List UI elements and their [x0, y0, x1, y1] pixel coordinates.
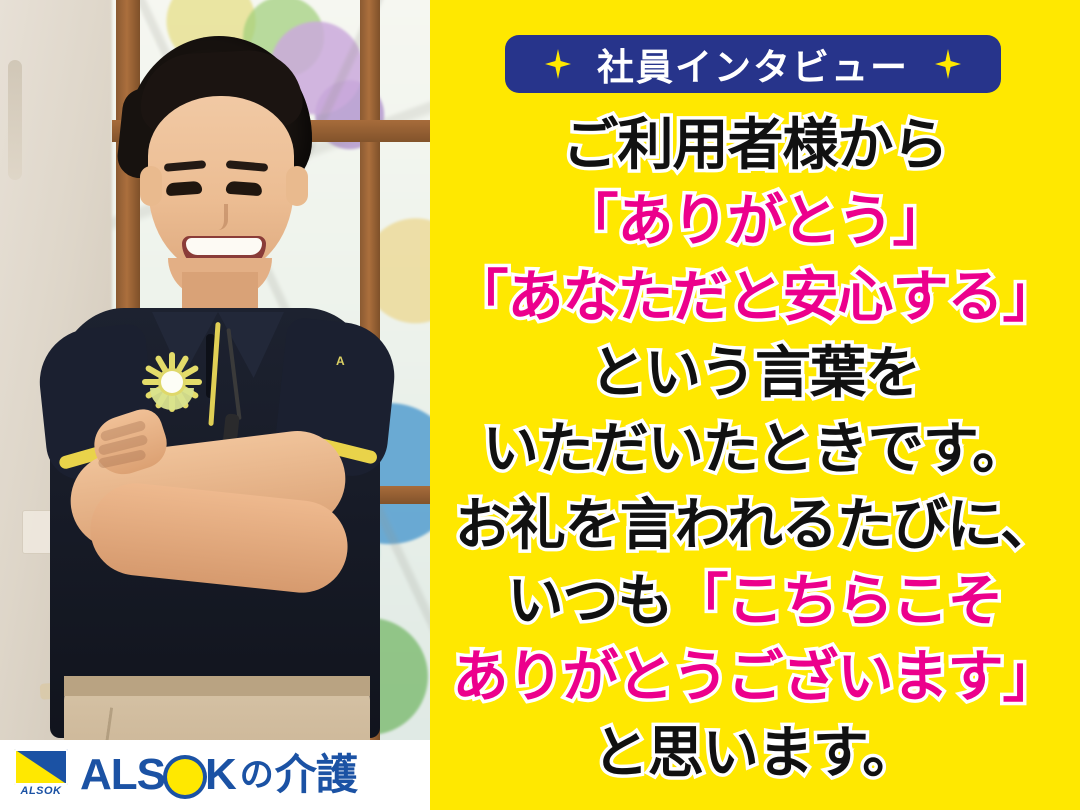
- employee-photo: A ALSOK ALS K の: [0, 0, 430, 810]
- quote-line-7: いつも「こちらこそ: [430, 564, 1080, 640]
- interview-badge-label: 社員インタビュー: [597, 37, 909, 91]
- sunburst-emblem-icon: [142, 352, 202, 412]
- waistband: [64, 676, 370, 696]
- eye-right: [226, 181, 263, 196]
- alsok-mark-wordmark: ALSOK: [14, 785, 68, 797]
- sparkle-icon-right: [935, 49, 961, 79]
- quote-line-1: ご利用者様から: [430, 108, 1080, 184]
- alsok-brand-text: ALS K の 介護: [80, 753, 357, 797]
- quote-line-2: 「ありがとう」: [430, 184, 1080, 260]
- quote-line-7-black: いつも: [508, 569, 673, 634]
- ear-right: [286, 166, 308, 206]
- emblem-hub: [161, 371, 183, 393]
- eye-left: [166, 181, 203, 196]
- quote-line-8: ありがとうございます」: [430, 640, 1080, 716]
- logo-brand-k: K: [205, 753, 236, 797]
- logo-o-circle-icon: [167, 759, 203, 795]
- quote-panel: 社員インタビュー ご利用者様から 「ありがとう」 「あなただと安心する」 という…: [430, 0, 1080, 810]
- quote-line-3: 「あなただと安心する」: [430, 260, 1080, 336]
- interview-badge: 社員インタビュー: [505, 35, 1001, 93]
- sparkle-icon-left: [545, 49, 571, 79]
- quote-line-6: お礼を言われるたびに、: [430, 488, 1080, 564]
- teeth: [186, 238, 262, 255]
- quote-line-7-magenta: 「こちらこそ: [673, 569, 1003, 634]
- logo-kana-no: の: [240, 758, 273, 792]
- sleeve-logo-icon: A: [336, 354, 362, 368]
- logo-kaigo: 介護: [275, 754, 357, 796]
- alsok-diagonal-square-icon: [14, 749, 68, 785]
- alsok-mark-icon: ALSOK: [14, 749, 68, 801]
- interview-quote: ご利用者様から 「ありがとう」 「あなただと安心する」 という言葉を いただいた…: [430, 108, 1080, 792]
- quote-line-5: いただいたときです。: [430, 412, 1080, 488]
- interview-poster: A ALSOK ALS K の: [0, 0, 1080, 810]
- person-figure: A: [36, 22, 396, 810]
- wall-trim: [8, 60, 22, 180]
- alsok-logo: ALSOK ALS K の 介護: [0, 740, 430, 810]
- quote-line-9: と思います。: [430, 716, 1080, 792]
- quote-line-4: という言葉を: [430, 336, 1080, 412]
- nose: [212, 204, 228, 230]
- logo-brand-als: ALS: [80, 753, 165, 797]
- photo-scene: A: [0, 0, 430, 810]
- ear-left: [140, 166, 162, 206]
